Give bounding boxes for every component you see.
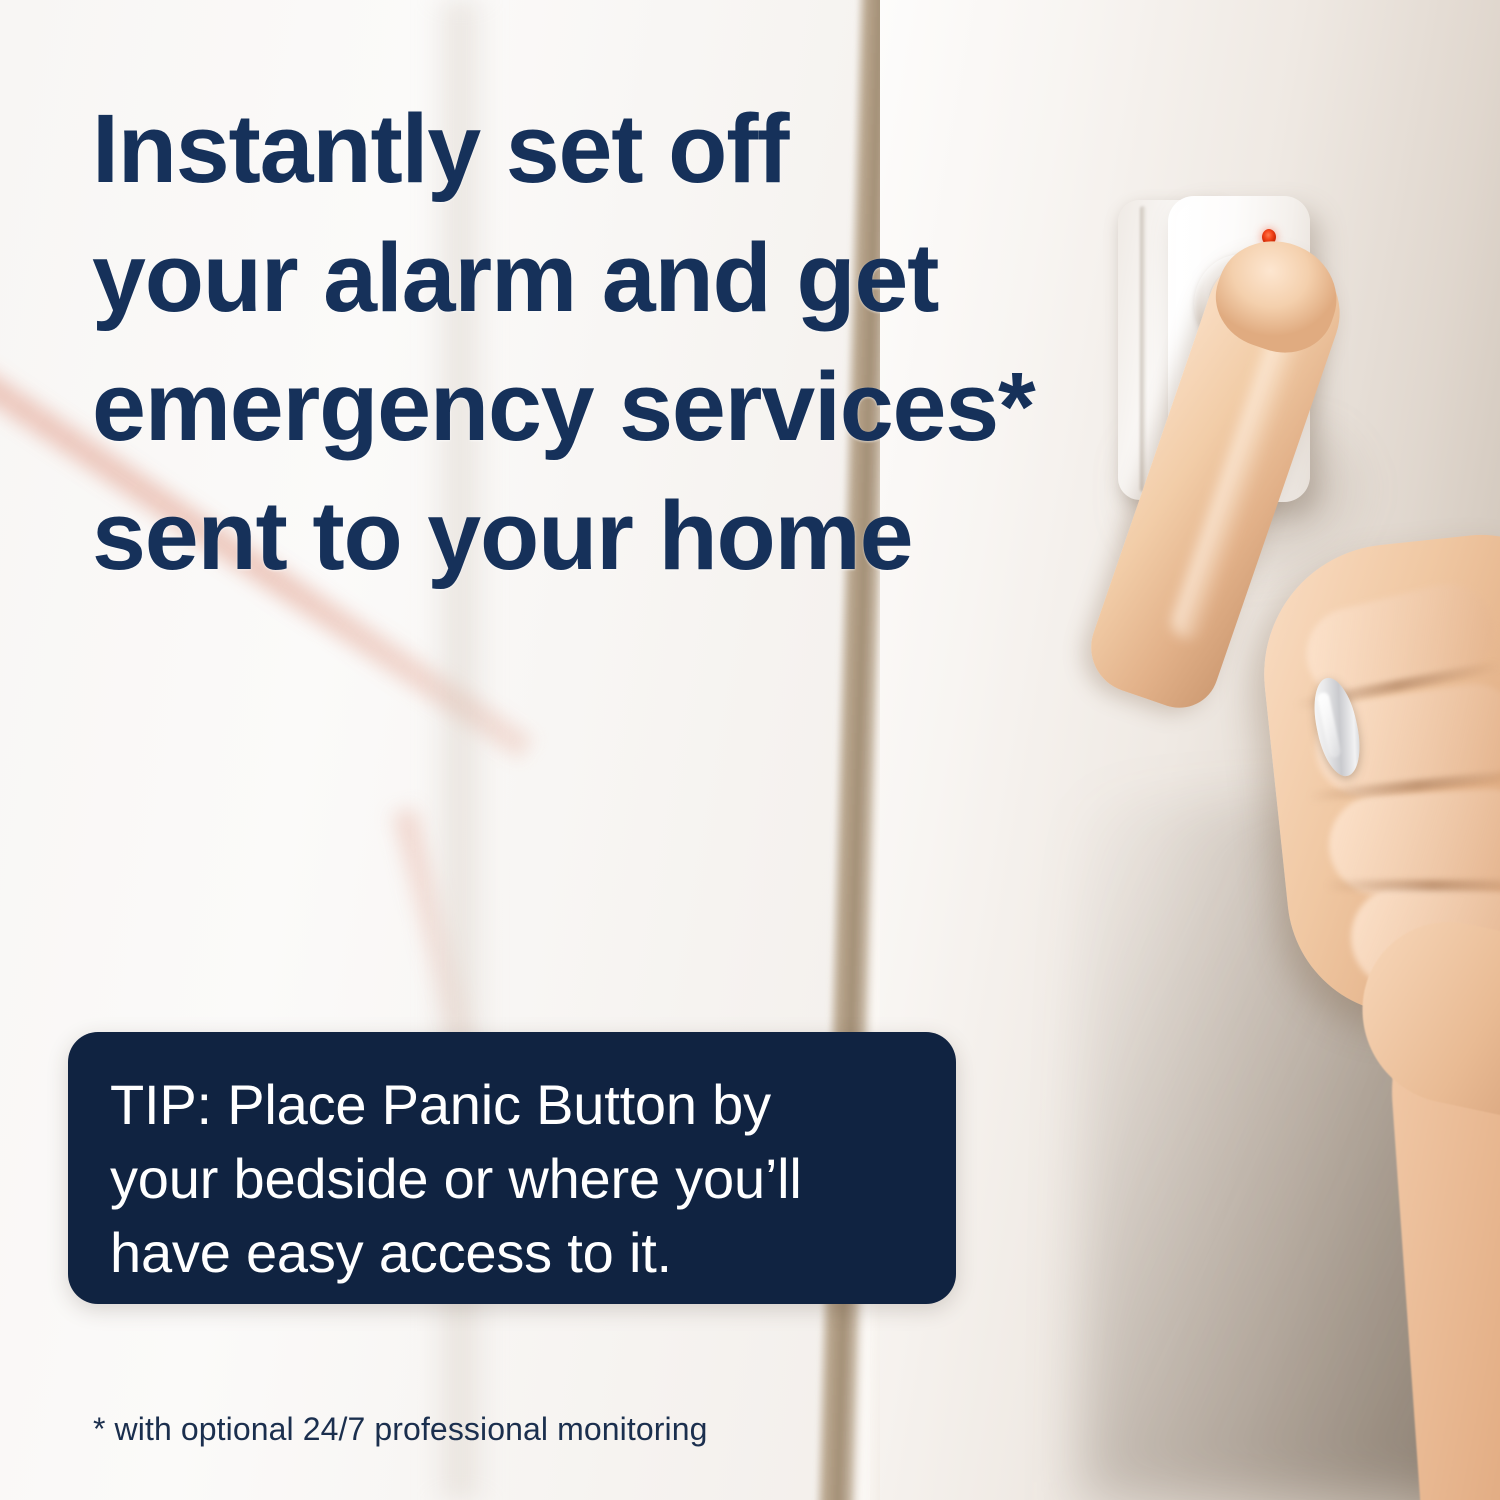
headline-line-3: emergency services* <box>92 342 1102 471</box>
headline-line-2: your alarm and get <box>92 213 1102 342</box>
tip-line-1: TIP: Place Panic Button by <box>110 1068 910 1142</box>
headline-line-4: sent to your home <box>92 471 1102 600</box>
tip-line-2: your bedside or where you’ll <box>110 1142 910 1216</box>
finger-crease <box>1325 880 1500 891</box>
hand-pressing-button <box>1165 240 1500 1140</box>
headline: Instantly set off your alarm and get eme… <box>92 84 1102 600</box>
tip-line-3: have easy access to it. <box>110 1216 910 1290</box>
tip-text: TIP: Place Panic Button by your bedside … <box>110 1068 910 1290</box>
tip-callout-box: TIP: Place Panic Button by your bedside … <box>68 1032 956 1304</box>
device-backplate-seam <box>1140 206 1146 492</box>
marketing-image-canvas: Instantly set off your alarm and get eme… <box>0 0 1500 1500</box>
headline-line-1: Instantly set off <box>92 84 1102 213</box>
footnote: * with optional 24/7 professional monito… <box>93 1408 708 1450</box>
